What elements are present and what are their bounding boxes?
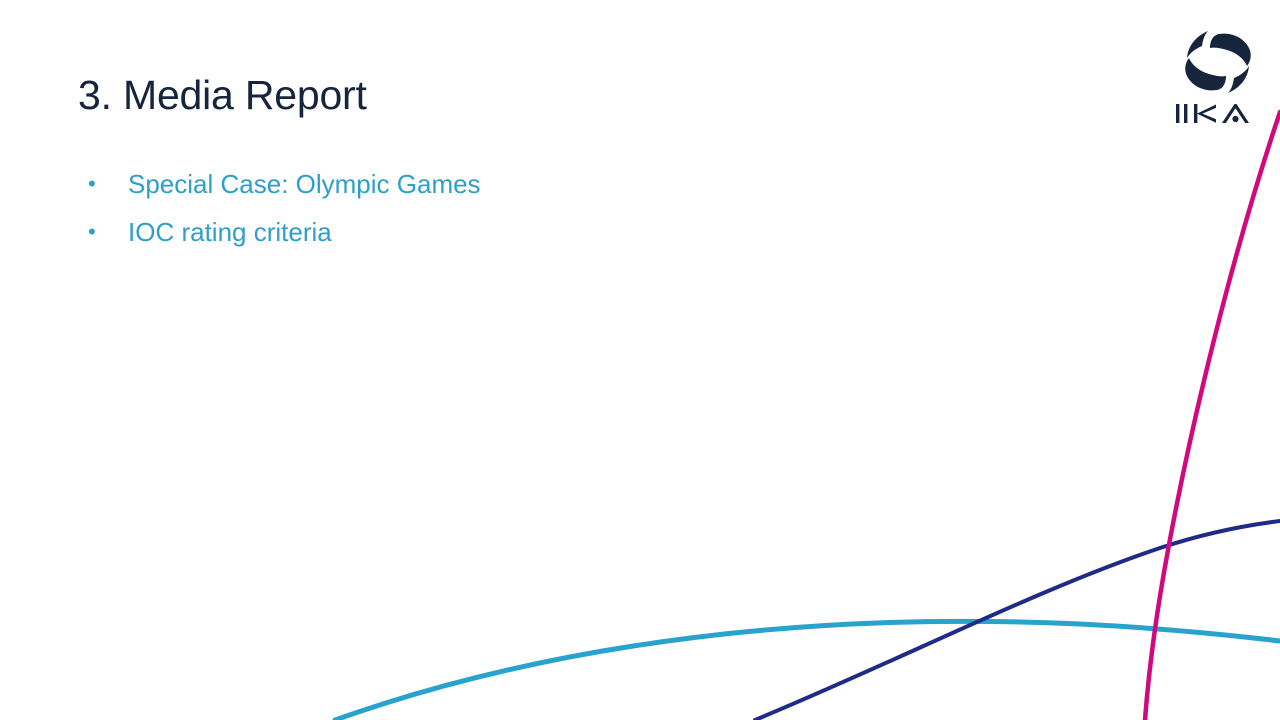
ika-swirl-mark-icon <box>1178 26 1258 98</box>
bullet-label: IOC rating criteria <box>128 208 332 256</box>
slide-canvas: 3. Media Report • Special Case: Olympic … <box>0 0 1280 720</box>
list-item: • Special Case: Olympic Games <box>88 160 481 208</box>
swirl-arc-left <box>1187 31 1208 58</box>
page-title: 3. Media Report <box>78 72 367 119</box>
bullet-dot-icon: • <box>88 208 128 256</box>
bullet-list: • Special Case: Olympic Games • IOC rati… <box>88 160 481 256</box>
swirl-blade-lower <box>1185 58 1226 90</box>
ika-logo <box>1172 26 1264 130</box>
swirl-arc-right <box>1228 66 1249 93</box>
cyan-curve-path <box>335 621 1280 720</box>
ika-wordmark-icon <box>1172 98 1264 128</box>
magenta-curve-path <box>1145 112 1280 720</box>
bullet-label: Special Case: Olympic Games <box>128 160 481 208</box>
list-item: • IOC rating criteria <box>88 208 481 256</box>
navy-curve-path <box>755 521 1280 720</box>
swirl-blade-upper <box>1210 34 1251 66</box>
bullet-dot-icon: • <box>88 160 128 208</box>
